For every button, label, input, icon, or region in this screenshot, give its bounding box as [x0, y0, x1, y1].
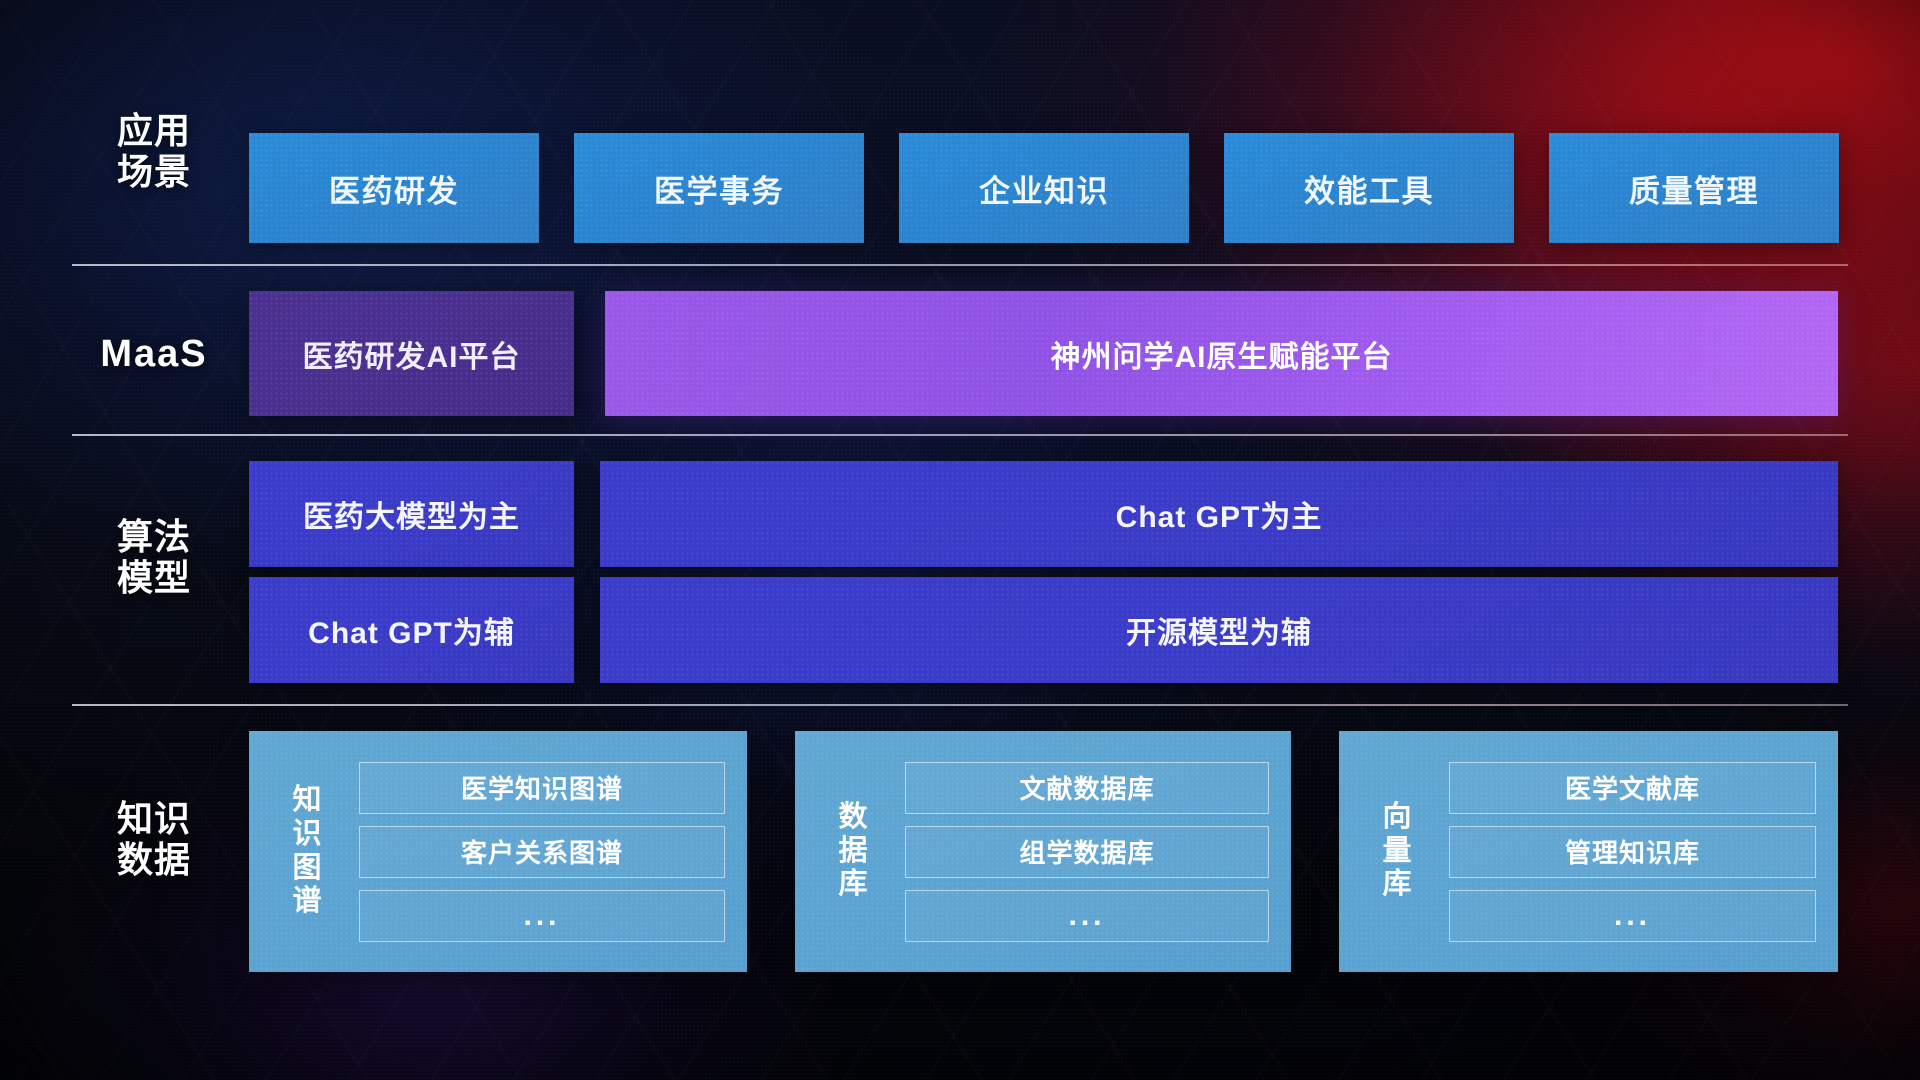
knowledge-item[interactable]: 医学知识图谱	[359, 762, 725, 814]
algo-card-medicine-llm-primary[interactable]: 医药大模型为主	[249, 461, 574, 567]
row-label-application: 应用 场景	[74, 110, 234, 192]
algo-card-chatgpt-primary[interactable]: Chat GPT为主	[600, 461, 1838, 567]
app-card-quality-management[interactable]: 质量管理	[1549, 133, 1839, 243]
app-card-label: 质量管理	[1629, 166, 1759, 211]
divider-application-maas	[72, 264, 1848, 266]
knowledge-panel-database[interactable]: 数 据 库 文献数据库 组学数据库 ...	[795, 731, 1291, 972]
architecture-diagram: 应用 场景 医药研发 医学事务 企业知识 效能工具 质量管理 MaaS 医药研发…	[0, 0, 1920, 1080]
app-card-label: 效能工具	[1304, 166, 1434, 211]
algo-card-opensource-secondary[interactable]: 开源模型为辅	[600, 577, 1838, 683]
maas-card-label: 神州问学AI原生赋能平台	[1051, 332, 1393, 376]
app-card-enterprise-knowledge[interactable]: 企业知识	[899, 133, 1189, 243]
knowledge-item-list: 医学知识图谱 客户关系图谱 ...	[351, 762, 747, 942]
row-label-algorithm: 算法 模型	[74, 516, 234, 598]
knowledge-item-list: 文献数据库 组学数据库 ...	[897, 762, 1291, 942]
algo-card-chatgpt-secondary[interactable]: Chat GPT为辅	[249, 577, 574, 683]
app-card-medical-affairs[interactable]: 医学事务	[574, 133, 864, 243]
knowledge-panel-vector-store[interactable]: 向 量 库 医学文献库 管理知识库 ...	[1339, 731, 1838, 972]
app-card-medicine-rd[interactable]: 医药研发	[249, 133, 539, 243]
algo-card-label: 开源模型为辅	[1126, 608, 1312, 652]
app-card-label: 企业知识	[979, 166, 1109, 211]
divider-maas-algorithm	[72, 434, 1848, 436]
algo-card-label: Chat GPT为主	[1116, 492, 1323, 536]
knowledge-item-more[interactable]: ...	[1449, 890, 1816, 942]
knowledge-item[interactable]: 文献数据库	[905, 762, 1269, 814]
app-card-label: 医学事务	[654, 166, 784, 211]
app-card-label: 医药研发	[329, 166, 459, 211]
knowledge-item-list: 医学文献库 管理知识库 ...	[1441, 762, 1838, 942]
algo-card-label: 医药大模型为主	[303, 492, 520, 536]
knowledge-panel-title: 数 据 库	[811, 801, 897, 902]
knowledge-panel-title: 向 量 库	[1355, 801, 1441, 902]
row-label-knowledge: 知识 数据	[74, 798, 234, 880]
knowledge-panel-knowledge-graph[interactable]: 知 识 图 谱 医学知识图谱 客户关系图谱 ...	[249, 731, 747, 972]
knowledge-item[interactable]: 客户关系图谱	[359, 826, 725, 878]
algo-card-label: Chat GPT为辅	[308, 608, 515, 652]
app-card-efficiency-tools[interactable]: 效能工具	[1224, 133, 1514, 243]
knowledge-panel-title: 知 识 图 谱	[265, 784, 351, 919]
row-label-maas: MaaS	[74, 333, 234, 376]
maas-card-shenzhou-wenxue-platform[interactable]: 神州问学AI原生赋能平台	[605, 291, 1838, 416]
knowledge-item-more[interactable]: ...	[905, 890, 1269, 942]
knowledge-item-more[interactable]: ...	[359, 890, 725, 942]
maas-card-label: 医药研发AI平台	[303, 332, 521, 376]
knowledge-item[interactable]: 医学文献库	[1449, 762, 1816, 814]
maas-card-medicine-ai-platform[interactable]: 医药研发AI平台	[249, 291, 574, 416]
knowledge-item[interactable]: 管理知识库	[1449, 826, 1816, 878]
divider-algorithm-knowledge	[72, 704, 1848, 706]
knowledge-item[interactable]: 组学数据库	[905, 826, 1269, 878]
